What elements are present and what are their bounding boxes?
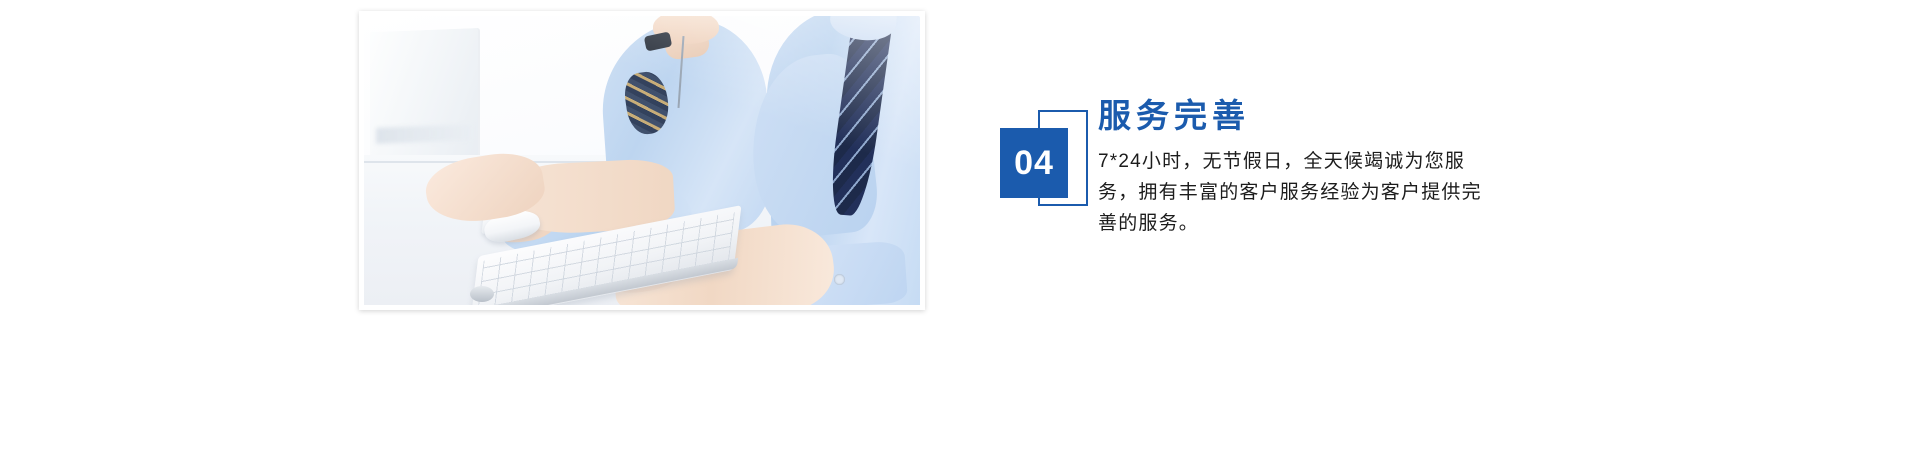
badge-number: 04 — [1014, 146, 1054, 180]
badge-square: 04 — [1000, 128, 1068, 198]
keyboard-foot — [470, 286, 494, 302]
feature-photo-frame — [359, 11, 925, 310]
feature-title: 服务完善 — [1098, 96, 1250, 136]
feature-number-badge: 04 — [1000, 118, 1092, 214]
feature-section: 04 服务完善 7*24小时，无节假日，全天候竭诚为您服务，拥有丰富的客户服务经… — [0, 0, 1920, 452]
feature-photo — [364, 16, 920, 305]
cuff-button — [834, 274, 845, 285]
feature-description: 7*24小时，无节假日，全天候竭诚为您服务，拥有丰富的客户服务经验为客户提供完善… — [1098, 146, 1498, 239]
